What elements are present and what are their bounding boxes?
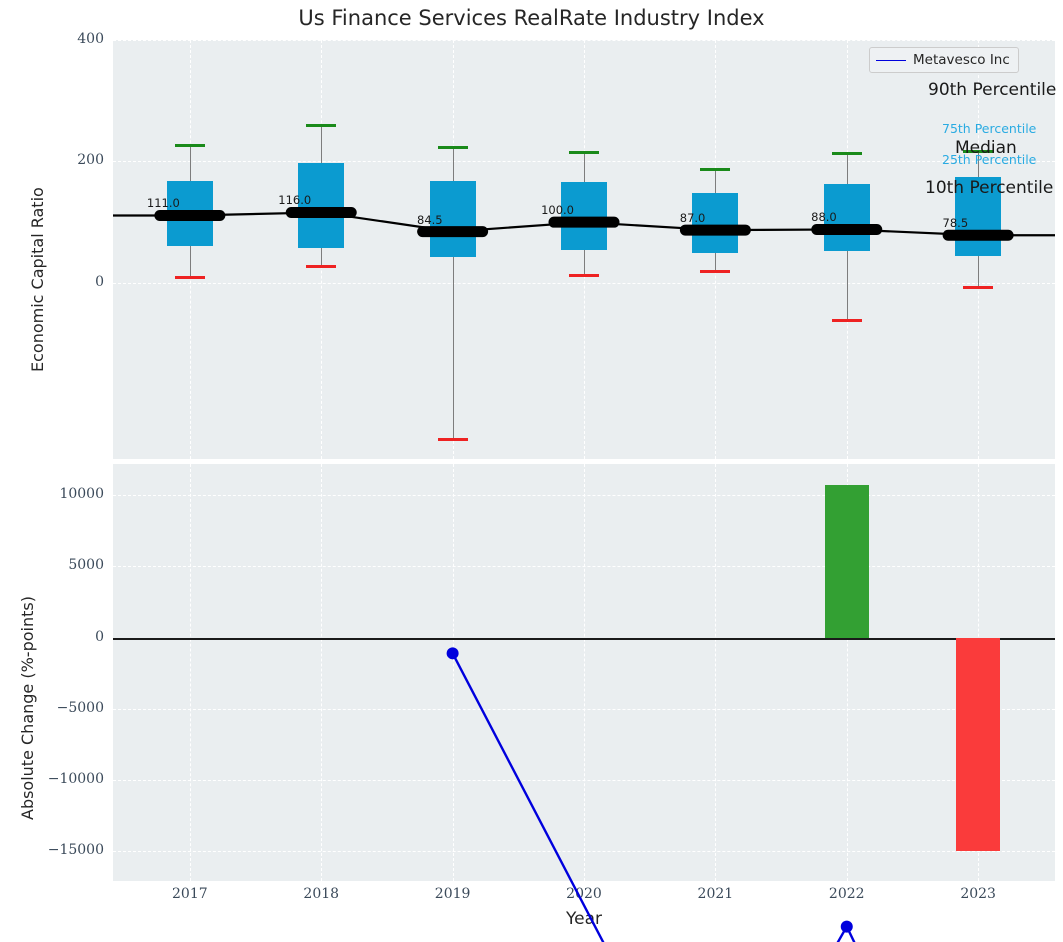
cap-10th-2020 [569, 274, 599, 277]
x-tick-label-2019: 2019 [413, 886, 493, 902]
y-tick-label: −5000 [57, 700, 104, 716]
x-tick-label-2021: 2021 [675, 886, 755, 902]
cap-10th-2017 [175, 276, 205, 279]
legend[interactable]: Metavesco Inc [869, 47, 1019, 73]
cap-90th-2019 [438, 146, 468, 149]
x-tick-label-2022: 2022 [807, 886, 887, 902]
annotation-10th-percentile: 10th Percentile [925, 178, 1053, 198]
annotation-25th-percentile: 25th Percentile [942, 152, 1036, 167]
y-axis-label-bottom: Absolute Change (%-points) [18, 596, 37, 820]
median-label-2023: 78.5 [882, 216, 968, 230]
box-2017 [167, 181, 213, 247]
bar-2023 [956, 638, 1000, 851]
median-label-2022: 88.0 [751, 210, 837, 224]
gridline-vertical [190, 464, 191, 881]
x-tick-label-2020: 2020 [544, 886, 624, 902]
zero-baseline [113, 638, 1055, 640]
x-tick-label-2018: 2018 [281, 886, 361, 902]
y-tick-label: 0 [95, 274, 104, 290]
y-axis-label-top: Economic Capital Ratio [28, 187, 47, 372]
y-tick-label: 200 [77, 152, 104, 168]
cap-10th-2018 [306, 265, 336, 268]
y-tick-label: 0 [95, 629, 104, 645]
gridline-vertical [715, 464, 716, 881]
y-tick-label: 10000 [59, 486, 104, 502]
legend-label-metavesco: Metavesco Inc [913, 52, 1010, 68]
median-label-2018: 116.0 [225, 193, 311, 207]
median-label-2017: 111.0 [94, 196, 180, 210]
gridline-vertical [453, 464, 454, 881]
cap-10th-2019 [438, 438, 468, 441]
cap-10th-2023 [963, 286, 993, 289]
annotation-75th-percentile: 75th Percentile [942, 121, 1036, 136]
annotation-90th-percentile: 90th Percentile [928, 80, 1056, 100]
median-label-2019: 84.5 [357, 213, 443, 227]
cap-90th-2021 [700, 168, 730, 171]
legend-line-swatch [876, 60, 906, 61]
cap-90th-2022 [832, 152, 862, 155]
cap-90th-2017 [175, 144, 205, 147]
y-tick-label: 400 [77, 31, 104, 47]
cap-10th-2022 [832, 319, 862, 322]
median-label-2020: 100.0 [488, 203, 574, 217]
cap-90th-2018 [306, 124, 336, 127]
bar-2022 [825, 485, 869, 637]
y-tick-label: −15000 [48, 842, 104, 858]
chart-figure: Us Finance Services RealRate Industry In… [0, 0, 1063, 942]
gridline-vertical [321, 464, 322, 881]
chart-title: Us Finance Services RealRate Industry In… [0, 6, 1063, 30]
x-axis-label: Year [113, 909, 1055, 929]
cap-10th-2021 [700, 270, 730, 273]
y-tick-label: −10000 [48, 771, 104, 787]
y-tick-label: 5000 [68, 557, 104, 573]
gridline-vertical [584, 464, 585, 881]
x-tick-label-2017: 2017 [150, 886, 230, 902]
x-tick-label-2023: 2023 [938, 886, 1018, 902]
median-label-2021: 87.0 [619, 211, 705, 225]
cap-90th-2020 [569, 151, 599, 154]
